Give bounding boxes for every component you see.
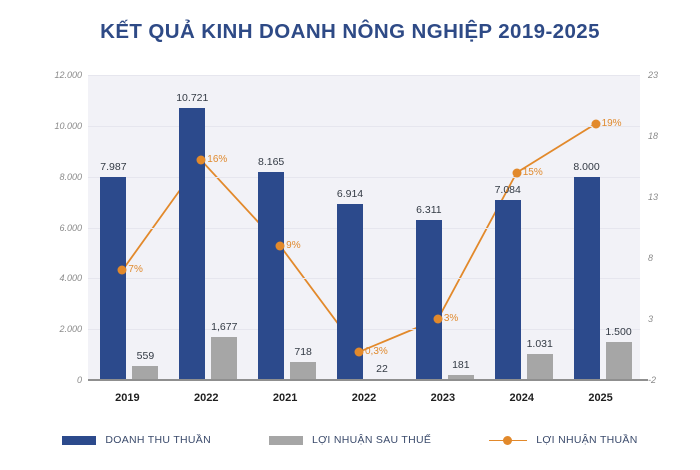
line-marker[interactable] — [355, 347, 364, 356]
bar-profit-after-tax[interactable] — [132, 366, 158, 380]
line-marker[interactable] — [433, 315, 442, 324]
y-axis-left-tick: 10.000 — [54, 121, 82, 131]
bar-revenue[interactable] — [574, 177, 600, 380]
line-label-net-margin: 16% — [207, 154, 227, 165]
legend-label-net-margin: LỢI NHUẬN THUẦN — [536, 434, 637, 446]
y-axis-right: -238131823 — [648, 75, 692, 380]
legend-swatch-line-marker-icon — [489, 436, 527, 445]
bar-revenue[interactable] — [416, 220, 442, 380]
x-axis-tick: 2021 — [273, 392, 297, 404]
y-axis-left-tick: 12.000 — [54, 70, 82, 80]
x-axis-tick: 2019 — [115, 392, 139, 404]
x-axis-tick: 2022 — [352, 392, 376, 404]
plot-inner: 7.9875597%10.7211,67716%8.1657189%6.9142… — [88, 75, 640, 380]
bar-profit-after-tax[interactable] — [527, 354, 553, 380]
gridline — [88, 228, 640, 229]
legend-swatch-revenue-icon — [62, 436, 96, 445]
y-axis-right-tick: 18 — [648, 131, 658, 141]
bar-label-revenue: 10.721 — [176, 92, 208, 104]
bar-label-profit-after-tax: 1,677 — [211, 321, 237, 333]
bar-label-revenue: 7.987 — [100, 161, 126, 173]
gridline — [88, 278, 640, 279]
line-marker[interactable] — [118, 266, 127, 275]
bar-label-revenue: 6.311 — [416, 204, 442, 216]
bar-profit-after-tax[interactable] — [606, 342, 632, 380]
legend-swatch-profit-icon — [269, 436, 303, 445]
gridline — [88, 126, 640, 127]
bar-label-profit-after-tax: 22 — [376, 363, 388, 375]
line-marker[interactable] — [512, 168, 521, 177]
bar-label-revenue: 8.165 — [258, 156, 284, 168]
line-label-net-margin: 3% — [444, 313, 458, 324]
gridline — [88, 177, 640, 178]
y-axis-right-tick: 13 — [648, 192, 658, 202]
line-marker[interactable] — [197, 156, 206, 165]
line-label-net-margin: 15% — [523, 167, 543, 178]
y-axis-left-tick: 4.000 — [59, 273, 82, 283]
chart-legend: DOANH THU THUẦN LỢI NHUẬN SAU THUẾ LỢI N… — [0, 428, 700, 452]
line-marker[interactable] — [276, 241, 285, 250]
x-axis-tick: 2025 — [588, 392, 612, 404]
chart-title: KẾT QUẢ KINH DOANH NÔNG NGHIỆP 2019-2025 — [0, 20, 700, 44]
x-axis-tick: 2023 — [431, 392, 455, 404]
bar-revenue[interactable] — [495, 200, 521, 380]
legend-item-profit-after-tax[interactable]: LỢI NHUẬN SAU THUẾ — [269, 434, 431, 446]
y-axis-right-tick: -2 — [648, 375, 656, 385]
x-axis-tick: 2022 — [194, 392, 218, 404]
bar-label-profit-after-tax: 718 — [294, 346, 312, 358]
bar-label-revenue: 8.000 — [573, 161, 599, 173]
y-axis-right-tick: 8 — [648, 253, 653, 263]
bar-label-profit-after-tax: 181 — [452, 359, 470, 371]
bar-revenue[interactable] — [258, 172, 284, 380]
y-axis-left-tick: 6.000 — [59, 223, 82, 233]
x-axis-tick: 2024 — [509, 392, 533, 404]
y-axis-left-tick: 2.000 — [59, 324, 82, 334]
line-label-net-margin: 19% — [602, 118, 622, 129]
bar-profit-after-tax[interactable] — [211, 337, 237, 380]
chart-card: KẾT QUẢ KINH DOANH NÔNG NGHIỆP 2019-2025… — [0, 0, 700, 470]
legend-item-net-margin[interactable]: LỢI NHUẬN THUẦN — [489, 434, 637, 446]
bar-label-profit-after-tax: 1.031 — [527, 338, 553, 350]
y-axis-right-tick: 3 — [648, 314, 653, 324]
line-label-net-margin: 9% — [286, 240, 300, 251]
plot-area: 7.9875597%10.7211,67716%8.1657189%6.9142… — [88, 75, 640, 380]
legend-label-revenue: DOANH THU THUẦN — [105, 434, 211, 446]
bar-label-profit-after-tax: 559 — [137, 350, 155, 362]
line-label-net-margin: 0,3% — [365, 346, 388, 357]
line-label-net-margin: 7% — [128, 264, 142, 275]
bar-profit-after-tax[interactable] — [290, 362, 316, 380]
bar-revenue[interactable] — [100, 177, 126, 380]
line-marker[interactable] — [591, 119, 600, 128]
y-axis-left-tick: 0 — [77, 375, 82, 385]
y-axis-right-tick: 23 — [648, 70, 658, 80]
gridline — [88, 75, 640, 76]
bar-label-revenue: 6.914 — [337, 188, 363, 200]
bar-label-revenue: 7.084 — [495, 184, 521, 196]
y-axis-left: 02.0004.0006.0008.00010.00012.000 — [20, 75, 82, 380]
bar-revenue[interactable] — [179, 108, 205, 380]
axis-baseline — [88, 379, 648, 381]
bar-label-profit-after-tax: 1.500 — [605, 326, 631, 338]
legend-label-profit-after-tax: LỢI NHUẬN SAU THUẾ — [312, 434, 431, 446]
gridline — [88, 329, 640, 330]
legend-item-revenue[interactable]: DOANH THU THUẦN — [62, 434, 211, 446]
y-axis-left-tick: 8.000 — [59, 172, 82, 182]
